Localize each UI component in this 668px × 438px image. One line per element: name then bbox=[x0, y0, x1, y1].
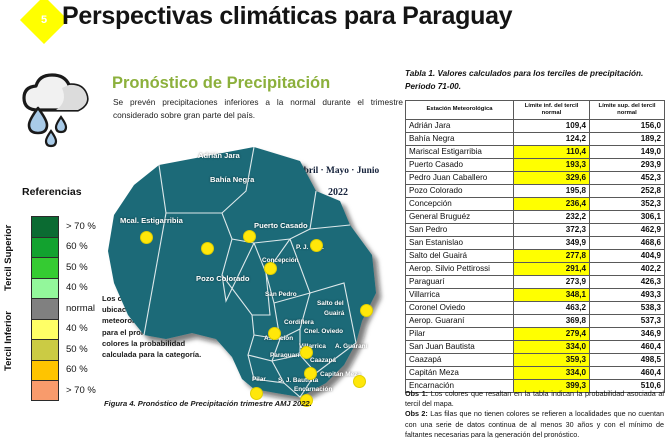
map-station-dot[interactable] bbox=[201, 242, 214, 255]
cell-lower-limit: 291,4 bbox=[514, 263, 590, 276]
observation-1-label: Obs 1: bbox=[405, 389, 428, 398]
map-station-dot[interactable] bbox=[353, 375, 366, 388]
table-row: General Bruguéz232,2306,1 bbox=[406, 211, 665, 224]
rain-cloud-icon bbox=[16, 70, 98, 154]
table-row: Bahía Negra124,2189,2 bbox=[406, 133, 665, 146]
cell-station: San Estanislao bbox=[406, 237, 514, 250]
map-city-label: A. Guaraní bbox=[335, 343, 367, 350]
observation-2-label: Obs 2: bbox=[405, 409, 428, 418]
cell-station: Aerop. Guaraní bbox=[406, 315, 514, 328]
cell-upper-limit: 352,3 bbox=[590, 198, 665, 211]
table-row: Salto del Guairá277,8404,9 bbox=[406, 250, 665, 263]
cell-upper-limit: 462,9 bbox=[590, 224, 665, 237]
section-number-label: 5 bbox=[27, 3, 61, 37]
table-row: Aerop. Guaraní369,8537,3 bbox=[406, 315, 665, 328]
cell-station: Bahía Negra bbox=[406, 133, 514, 146]
legend-row: 60 % bbox=[31, 237, 97, 258]
cell-lower-limit: 279,4 bbox=[514, 328, 590, 341]
observation-2-text: Las filas que no tienen colores se refie… bbox=[405, 409, 664, 438]
cell-lower-limit: 236,4 bbox=[514, 198, 590, 211]
table-row: Villarrica348,1493,3 bbox=[406, 289, 665, 302]
cell-station: Puerto Casado bbox=[406, 159, 514, 172]
table-header-row: Estación Meteorológica Límite inf. del t… bbox=[406, 101, 665, 120]
cell-upper-limit: 452,3 bbox=[590, 172, 665, 185]
cell-lower-limit: 372,3 bbox=[514, 224, 590, 237]
legend-upper-tercile-label: Tercil Superior bbox=[3, 217, 14, 299]
map-city-label: Pozo Colorado bbox=[196, 274, 250, 283]
table-row: San Pedro372,3462,9 bbox=[406, 224, 665, 237]
legend-swatch-label: 60 % bbox=[66, 364, 88, 375]
cell-station: Villarrica bbox=[406, 289, 514, 302]
legend-row: > 70 % bbox=[31, 216, 97, 237]
legend-swatch bbox=[31, 216, 59, 237]
observation-2: Obs 2: Las filas que no tienen colores s… bbox=[405, 409, 664, 438]
cell-lower-limit: 348,1 bbox=[514, 289, 590, 302]
cell-lower-limit: 232,2 bbox=[514, 211, 590, 224]
legend-swatch bbox=[31, 237, 59, 258]
legend-swatch bbox=[31, 339, 59, 360]
table-row: Aerop. Silvio Pettirossi291,4402,2 bbox=[406, 263, 665, 276]
cell-upper-limit: 306,1 bbox=[590, 211, 665, 224]
cell-station: Aerop. Silvio Pettirossi bbox=[406, 263, 514, 276]
legend-row: 40 % bbox=[31, 278, 97, 299]
map-city-label: San Pedro bbox=[265, 291, 297, 298]
slide-root: 5 Perspectivas climáticas para Paraguay … bbox=[0, 0, 668, 438]
cell-station: Pedro Juan Caballero bbox=[406, 172, 514, 185]
legend-swatch-label: 40 % bbox=[66, 282, 88, 293]
legend-swatch bbox=[31, 380, 59, 401]
table-row: Concepción236,4352,3 bbox=[406, 198, 665, 211]
forecast-body: Se prevén precipitaciones inferiores a l… bbox=[113, 96, 403, 122]
col-header-station: Estación Meteorológica bbox=[406, 101, 514, 120]
legend-swatch-label: 40 % bbox=[66, 323, 88, 334]
cell-upper-limit: 404,9 bbox=[590, 250, 665, 263]
legend-swatch bbox=[31, 257, 59, 278]
table-row: Pedro Juan Caballero329,6452,3 bbox=[406, 172, 665, 185]
legend-swatch-label: > 70 % bbox=[66, 385, 96, 396]
map-station-dot[interactable] bbox=[310, 239, 323, 252]
map-city-label: Caazapá bbox=[310, 357, 336, 364]
legend-row: 40 % bbox=[31, 319, 97, 340]
cell-station: Paraguarí bbox=[406, 276, 514, 289]
legend-swatch-label: 50 % bbox=[66, 262, 88, 273]
map-city-label: Mcal. Estigarribia bbox=[120, 216, 183, 225]
cell-station: San Pedro bbox=[406, 224, 514, 237]
legend-swatch-label: normal bbox=[66, 303, 95, 314]
forecast-title: Pronóstico de Precipitación bbox=[112, 74, 330, 93]
map-station-dot[interactable] bbox=[360, 304, 373, 317]
tercile-values-table: Estación Meteorológica Límite inf. del t… bbox=[405, 100, 665, 393]
legend-row: > 70 % bbox=[31, 380, 97, 401]
table-row: Puerto Casado193,3293,9 bbox=[406, 159, 665, 172]
map-station-dot[interactable] bbox=[268, 327, 281, 340]
map-city-label: Encarnación bbox=[294, 386, 332, 393]
cell-upper-limit: 537,3 bbox=[590, 315, 665, 328]
observation-1-text: Los colores que resaltan en la tabla ind… bbox=[405, 389, 664, 408]
map-city-label: Guairá bbox=[324, 310, 344, 317]
table-row: San Estanislao349,9468,6 bbox=[406, 237, 665, 250]
figure-caption: Figura 4. Pronóstico de Precipitación tr… bbox=[104, 399, 312, 408]
cell-lower-limit: 277,8 bbox=[514, 250, 590, 263]
cell-upper-limit: 468,6 bbox=[590, 237, 665, 250]
table-row: Mariscal Estigarribia110,4149,0 bbox=[406, 146, 665, 159]
map-station-dot[interactable] bbox=[304, 367, 317, 380]
cell-station: Adrián Jara bbox=[406, 120, 514, 133]
legend-row: 50 % bbox=[31, 257, 97, 278]
cell-station: Capitán Meza bbox=[406, 367, 514, 380]
cell-upper-limit: 426,3 bbox=[590, 276, 665, 289]
cell-upper-limit: 538,3 bbox=[590, 302, 665, 315]
table-row: San Juan Bautista334,0460,4 bbox=[406, 341, 665, 354]
cell-station: General Bruguéz bbox=[406, 211, 514, 224]
legend-swatch bbox=[31, 298, 59, 319]
cell-upper-limit: 293,9 bbox=[590, 159, 665, 172]
cell-lower-limit: 334,0 bbox=[514, 367, 590, 380]
table-row: Coronel Oviedo463,2538,3 bbox=[406, 302, 665, 315]
map-station-dot[interactable] bbox=[264, 262, 277, 275]
legend-swatch-label: > 70 % bbox=[66, 221, 96, 232]
cell-upper-limit: 346,9 bbox=[590, 328, 665, 341]
cell-upper-limit: 149,0 bbox=[590, 146, 665, 159]
cell-lower-limit: 124,2 bbox=[514, 133, 590, 146]
table-row: Capitán Meza334,0460,4 bbox=[406, 367, 665, 380]
cell-upper-limit: 156,0 bbox=[590, 120, 665, 133]
map-city-label: Cordillera bbox=[284, 319, 314, 326]
map-city-label: Bahía Negra bbox=[210, 175, 254, 184]
cell-station: Salto del Guairá bbox=[406, 250, 514, 263]
cell-lower-limit: 329,6 bbox=[514, 172, 590, 185]
cell-upper-limit: 460,4 bbox=[590, 341, 665, 354]
cell-station: Mariscal Estigarribia bbox=[406, 146, 514, 159]
cell-lower-limit: 193,3 bbox=[514, 159, 590, 172]
legend-row: normal bbox=[31, 298, 97, 319]
cell-station: Coronel Oviedo bbox=[406, 302, 514, 315]
page-header: 5 Perspectivas climáticas para Paraguay bbox=[0, 0, 668, 46]
cell-station: Caazapá bbox=[406, 354, 514, 367]
cell-station: Concepción bbox=[406, 198, 514, 211]
cell-station: San Juan Bautista bbox=[406, 341, 514, 354]
map-station-dot[interactable] bbox=[300, 346, 313, 359]
map-station-dot[interactable] bbox=[140, 231, 153, 244]
cell-upper-limit: 189,2 bbox=[590, 133, 665, 146]
map-city-label: Pilar bbox=[252, 376, 266, 383]
cell-station: Pozo Colorado bbox=[406, 185, 514, 198]
legend-swatch-label: 60 % bbox=[66, 241, 88, 252]
cell-upper-limit: 493,3 bbox=[590, 289, 665, 302]
table-row: Pilar279,4346,9 bbox=[406, 328, 665, 341]
map-city-label: Cnel. Oviedo bbox=[304, 328, 343, 335]
col-header-upper: Límite sup. del tercil normal bbox=[590, 101, 665, 120]
map-city-label: Paraguarí bbox=[270, 352, 299, 359]
cell-station: Pilar bbox=[406, 328, 514, 341]
cell-lower-limit: 349,9 bbox=[514, 237, 590, 250]
cell-upper-limit: 402,2 bbox=[590, 263, 665, 276]
cell-upper-limit: 252,8 bbox=[590, 185, 665, 198]
map-station-dot[interactable] bbox=[243, 230, 256, 243]
cell-lower-limit: 359,3 bbox=[514, 354, 590, 367]
legend-swatch bbox=[31, 278, 59, 299]
table-observations: Obs 1: Los colores que resaltan en la ta… bbox=[405, 389, 664, 438]
legend-swatch-list: > 70 %60 %50 %40 %normal40 %50 %60 %> 70… bbox=[31, 216, 97, 401]
cell-upper-limit: 498,5 bbox=[590, 354, 665, 367]
observation-1: Obs 1: Los colores que resaltan en la ta… bbox=[405, 389, 664, 409]
table-caption: Tabla 1. Valores calculados para los ter… bbox=[405, 67, 663, 93]
legend-title: Referencias bbox=[22, 186, 82, 198]
cell-lower-limit: 195,8 bbox=[514, 185, 590, 198]
paraguay-forecast-map[interactable]: Adrián JaraBahía NegraMcal. Estigarribia… bbox=[104, 143, 400, 401]
table-row: Caazapá359,3498,5 bbox=[406, 354, 665, 367]
legend-swatch bbox=[31, 360, 59, 381]
map-city-label: Puerto Casado bbox=[254, 221, 308, 230]
col-header-lower: Límite inf. del tercil normal bbox=[514, 101, 590, 120]
legend-swatch bbox=[31, 319, 59, 340]
page-title: Perspectivas climáticas para Paraguay bbox=[62, 2, 512, 31]
table-row: Paraguarí273,9426,3 bbox=[406, 276, 665, 289]
cell-upper-limit: 460,4 bbox=[590, 367, 665, 380]
cell-lower-limit: 334,0 bbox=[514, 341, 590, 354]
cell-lower-limit: 109,4 bbox=[514, 120, 590, 133]
table-row: Pozo Colorado195,8252,8 bbox=[406, 185, 665, 198]
legend-swatch-label: 50 % bbox=[66, 344, 88, 355]
legend-row: 60 % bbox=[31, 360, 97, 381]
cell-lower-limit: 463,2 bbox=[514, 302, 590, 315]
legend-lower-tercile-label: Tercil Inferior bbox=[3, 299, 14, 383]
cell-lower-limit: 110,4 bbox=[514, 146, 590, 159]
cell-lower-limit: 369,8 bbox=[514, 315, 590, 328]
map-city-label: Adrián Jara bbox=[198, 151, 240, 160]
cell-lower-limit: 273,9 bbox=[514, 276, 590, 289]
map-city-label: Salto del bbox=[317, 300, 344, 307]
table-row: Adrián Jara109,4156,0 bbox=[406, 120, 665, 133]
legend-row: 50 % bbox=[31, 339, 97, 360]
